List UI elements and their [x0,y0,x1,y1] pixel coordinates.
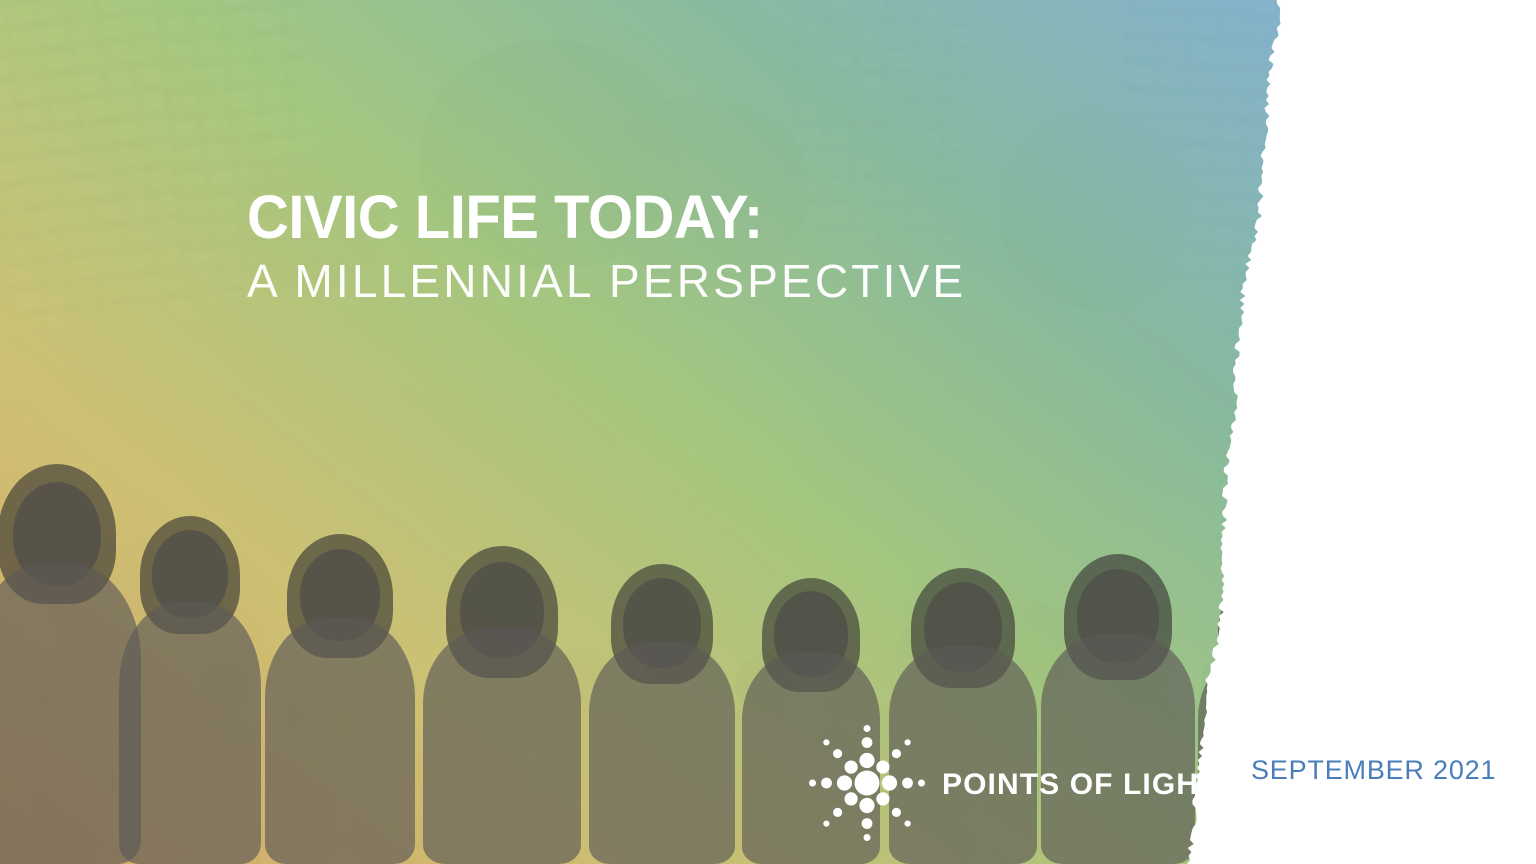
points-of-light-starburst-icon [806,722,928,844]
brand-wordmark: POINTS OF LIGHT [942,768,1219,802]
date-stamp: SEPTEMBER 2021 [1251,755,1496,786]
page-title: CIVIC LIFE TODAY: [247,186,1197,248]
photo-person [430,546,574,864]
photo-person [0,464,132,864]
photo-person [272,534,408,864]
title-slide: CIVIC LIFE TODAY: A MILLENNIAL PERSPECTI… [0,0,1536,864]
title-block: CIVIC LIFE TODAY: A MILLENNIAL PERSPECTI… [247,186,1247,306]
page-subtitle: A MILLENNIAL PERSPECTIVE [247,257,1247,305]
photo-person [596,564,728,864]
brand-logo-lockup: POINTS OF LIGHT [806,722,1219,844]
photo-person [1204,574,1320,864]
photo-person [126,516,254,864]
